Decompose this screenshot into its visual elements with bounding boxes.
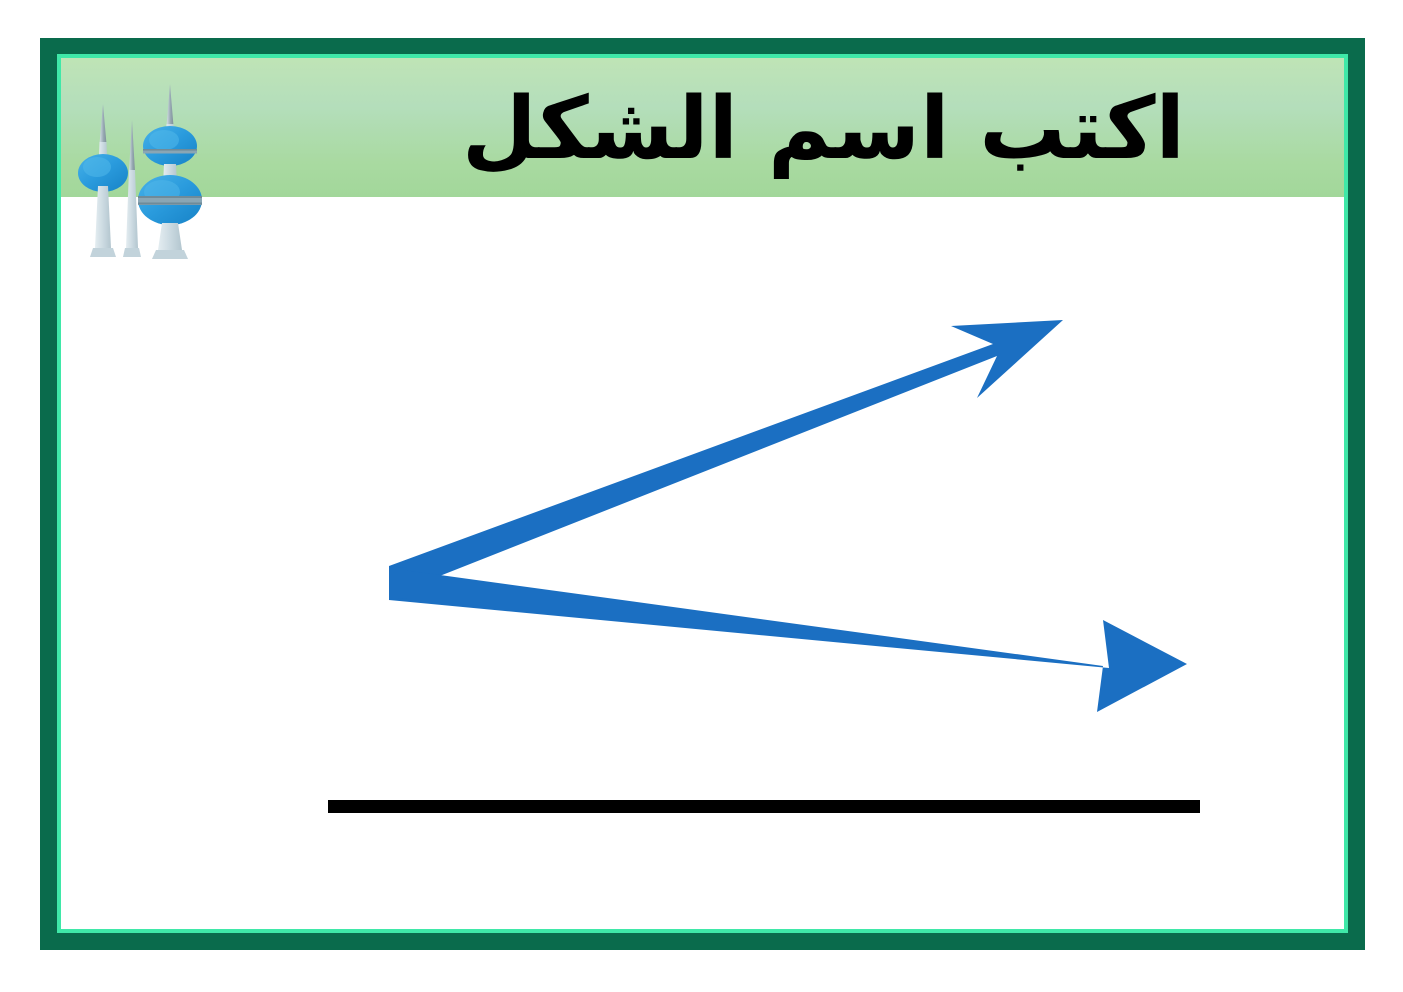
- slide-root: اكتب اسم الشكل: [0, 0, 1403, 992]
- tower-left: [78, 104, 128, 257]
- page-title: اكتب اسم الشكل: [61, 64, 1344, 194]
- ray-upper-icon: [389, 320, 1063, 596]
- ray-lower-icon: [389, 568, 1187, 712]
- angle-shape-figure: [371, 248, 1211, 648]
- tower-right: [138, 84, 202, 259]
- slide-canvas: اكتب اسم الشكل: [61, 58, 1344, 929]
- angle-vertex: [389, 566, 407, 600]
- tower-middle: [123, 120, 141, 257]
- kuwait-towers-logo: [70, 80, 220, 280]
- answer-blank-line[interactable]: [328, 800, 1200, 813]
